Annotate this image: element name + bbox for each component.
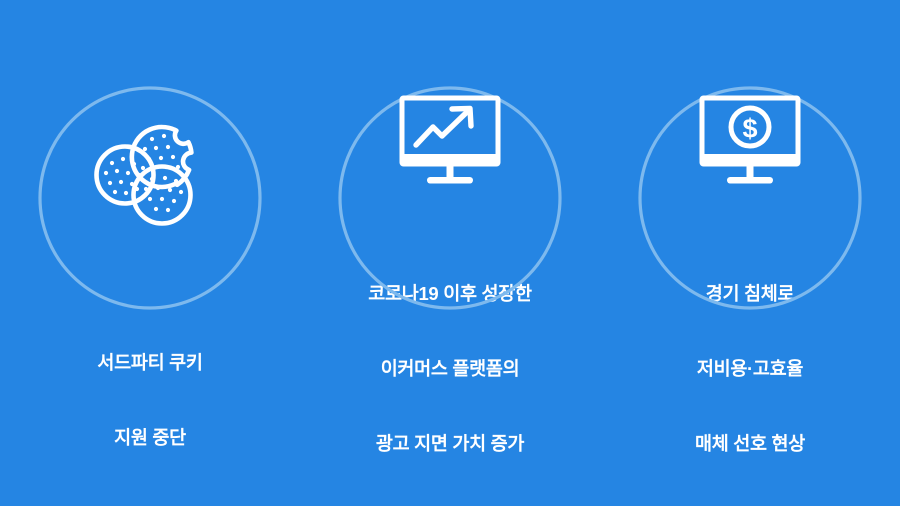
caption-line: 이커머스 플랫폼의 — [368, 356, 531, 381]
icon-circle-3: $ — [637, 85, 863, 195]
icon-circle-2 — [337, 85, 563, 195]
caption-line: 지원 중단 — [97, 425, 202, 450]
infographic-board: 서드파티 쿠키 지원 중단 — [0, 0, 900, 500]
caption-line: 서드파티 쿠키 — [97, 350, 202, 375]
monitor-growth-chart-icon — [390, 85, 510, 195]
icon-circle-1 — [37, 85, 263, 264]
cookies-icon — [90, 120, 210, 230]
card-ecommerce-ad-value: 코로나19 이후 성장한 이커머스 플랫폼의 광고 지면 가치 증가 — [300, 0, 600, 500]
caption-line: 저비용·고효율 — [695, 356, 805, 381]
card-low-cost-media: $ 경기 침체로 저비용·고효율 매체 선호 현상 — [600, 0, 900, 500]
caption-line: 광고 지면 가치 증가 — [368, 431, 531, 456]
card-third-party-cookies: 서드파티 쿠키 지원 중단 — [0, 0, 300, 500]
caption-line: 매체 선호 현상 — [695, 431, 805, 456]
card-caption-1: 서드파티 쿠키 지원 중단 — [97, 300, 202, 500]
svg-text:$: $ — [742, 114, 757, 144]
monitor-dollar-coin-icon: $ — [690, 85, 810, 195]
